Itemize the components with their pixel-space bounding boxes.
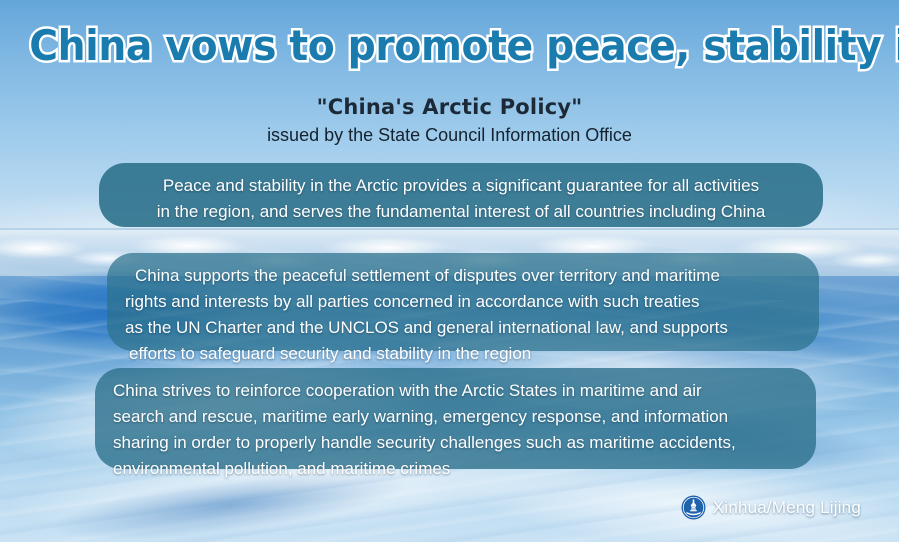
statement-panel: China strives to reinforce cooperation w… (95, 368, 816, 469)
xinhua-logo-icon (681, 495, 706, 520)
statement-panel: Peace and stability in the Arctic provid… (99, 163, 823, 227)
statement-line: environmental pollution, and maritime cr… (113, 456, 798, 482)
statement-line: Peace and stability in the Arctic provid… (117, 173, 805, 199)
statement-line: China strives to reinforce cooperation w… (113, 378, 798, 404)
policy-issuer: issued by the State Council Information … (0, 124, 899, 147)
subtitle-block: "China's Arctic Policy" issued by the St… (0, 94, 899, 147)
statement-panel: China supports the peaceful settlement o… (107, 253, 819, 351)
statement-line: efforts to safeguard security and stabil… (125, 341, 801, 367)
credit-text: Xinhua/Meng Lijing (713, 498, 861, 518)
statement-line: China supports the peaceful settlement o… (125, 263, 801, 289)
statement-line: in the region, and serves the fundamenta… (117, 199, 805, 225)
statement-line: search and rescue, maritime early warnin… (113, 404, 798, 430)
statement-line: as the UN Charter and the UNCLOS and gen… (125, 315, 801, 341)
credit-block: Xinhua/Meng Lijing (681, 495, 861, 520)
policy-document-title: "China's Arctic Policy" (0, 94, 899, 121)
statement-line: rights and interests by all parties conc… (125, 289, 801, 315)
infographic-poster: China vows to promote peace, stability i… (0, 0, 899, 542)
page-title: China vows to promote peace, stability i… (29, 22, 870, 70)
statement-line: sharing in order to properly handle secu… (113, 430, 798, 456)
